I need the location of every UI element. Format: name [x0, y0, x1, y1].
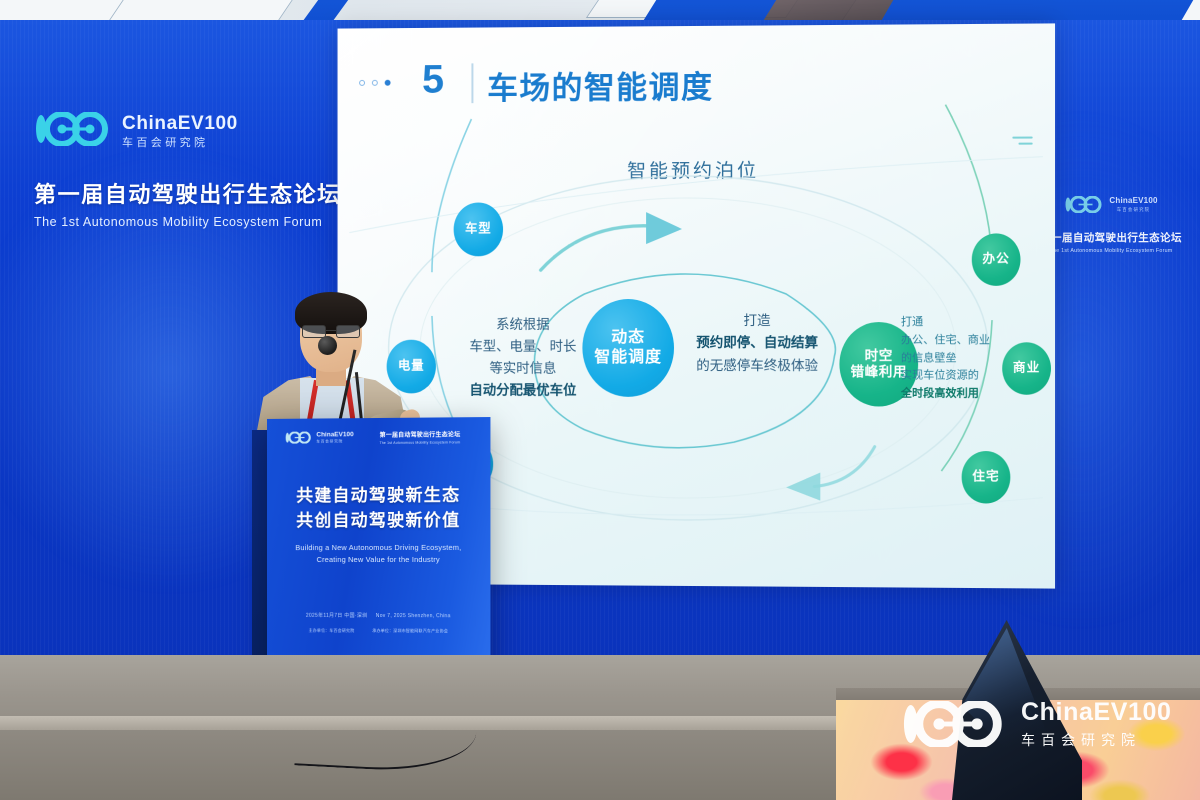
- podium-slogan: 共建自动驾驶新生态 共创自动驾驶新价值 Building a New Auton…: [267, 483, 490, 566]
- left-banner-branding: ChinaEV100 车百会研究院 第一届自动驾驶出行生态论坛 The 1st …: [34, 112, 324, 229]
- right-banner-title-en: The 1st Autonomous Mobility Ecosystem Fo…: [1036, 248, 1186, 254]
- node-residential: 住宅: [962, 451, 1011, 504]
- right-banner-title-cn: 第一届自动驾驶出行生态论坛: [1036, 230, 1186, 245]
- conference-stage-photo: ChinaEV100 车百会研究院 第一届自动驾驶出行生态论坛 The 1st …: [0, 0, 1200, 800]
- podium-slogan-line2: 共创自动驾驶新价值: [267, 508, 490, 533]
- mid-text-line1: 打造: [682, 310, 832, 333]
- node-label: 办公: [982, 252, 1009, 267]
- china-ev100-logo-icon: [285, 432, 313, 444]
- peak-bubble-line2: 错峰利用: [851, 364, 907, 381]
- podium-footer: 2025年11月7日 中国·深圳 Nov 7, 2025 Shenzhen, C…: [267, 612, 490, 635]
- node-label: 住宅: [972, 470, 999, 485]
- left-banner-title-en: The 1st Autonomous Mobility Ecosystem Fo…: [34, 215, 324, 229]
- right-description-text: 打通 办公、住宅、商业 的信息壁垒 实现车位资源的 全时段高效利用: [901, 314, 1010, 404]
- podium-logo-cn: 车百会研究院: [316, 439, 353, 444]
- podium-slogan-en-line1: Building a New Autonomous Driving Ecosys…: [267, 542, 490, 554]
- left-banner-logo-en: ChinaEV100: [122, 114, 238, 133]
- podium-date-cn: 2025年11月7日 中国·深圳: [306, 613, 368, 619]
- right-banner-logo-cn: 车百会研究院: [1109, 207, 1157, 213]
- right-text-line2: 办公、住宅、商业: [901, 332, 1010, 350]
- peak-bubble-line1: 时空: [851, 348, 907, 365]
- node-label: 车型: [465, 222, 492, 237]
- left-banner-logo-cn: 车百会研究院: [122, 138, 238, 149]
- left-text-line3: 等实时信息: [458, 357, 589, 379]
- watermark-logo-en: ChinaEV100: [1021, 700, 1172, 725]
- podium-logo-en: ChinaEV100: [316, 431, 353, 438]
- core-bubble-line1: 动态: [594, 328, 662, 348]
- right-text-line1: 打通: [901, 314, 1010, 332]
- podium-forum-cn: 第一届自动驾驶出行生态论坛: [380, 429, 461, 439]
- left-text-line2: 车型、电量、时长: [458, 336, 589, 358]
- podium-host: 主办单位：车百会研究院: [309, 628, 355, 634]
- right-text-line4: 实现车位资源的: [901, 368, 1010, 386]
- mid-text-line3: 的无感停车终极体验: [682, 355, 832, 378]
- mid-text-line2: 预约即停、自动结算: [682, 332, 832, 355]
- left-description-text: 系统根据 车型、电量、时长 等实时信息 自动分配最优车位: [458, 314, 589, 401]
- right-text-line3: 的信息壁垒: [901, 350, 1010, 368]
- node-vehicle-type: 车型: [454, 203, 503, 257]
- podium-forum-en: The 1st Autonomous Mobility Ecosystem Fo…: [380, 440, 461, 445]
- china-ev100-logo-icon: [900, 701, 1008, 747]
- left-banner-title-cn: 第一届自动驾驶出行生态论坛: [34, 177, 324, 209]
- left-text-line4: 自动分配最优车位: [458, 379, 589, 401]
- watermark-logo-cn: 车百会研究院: [1021, 733, 1172, 747]
- podium-support: 承办单位：深圳市智能网联汽车产业协会: [372, 628, 448, 634]
- china-ev100-logo-icon: [34, 112, 112, 151]
- watermark-logo: ChinaEV100 车百会研究院: [900, 700, 1172, 747]
- podium-slogan-en-line2: Creating New Value for the Industry: [267, 554, 490, 566]
- podium-date-en: Nov 7, 2025 Shenzhen, China: [376, 613, 451, 619]
- mid-description-text: 打造 预约即停、自动结算 的无感停车终极体验: [682, 310, 832, 377]
- right-banner-branding: ChinaEV100 车百会研究院 第一届自动驾驶出行生态论坛 The 1st …: [1036, 196, 1186, 254]
- china-ev100-logo-icon: [1064, 196, 1104, 213]
- core-bubble-dynamic-scheduling: 动态 智能调度: [582, 299, 674, 397]
- left-text-line1: 系统根据: [458, 314, 589, 336]
- node-label: 商业: [1013, 361, 1040, 376]
- podium-slogan-line1: 共建自动驾驶新生态: [267, 483, 490, 509]
- node-office: 办公: [972, 233, 1021, 285]
- microphone-head-icon: [318, 336, 337, 355]
- right-banner-logo-en: ChinaEV100: [1109, 196, 1157, 205]
- podium-logo-row: ChinaEV100 车百会研究院 第一届自动驾驶出行生态论坛 The 1st …: [285, 429, 461, 445]
- core-bubble-line2: 智能调度: [594, 348, 662, 368]
- right-text-line5: 全时段高效利用: [901, 386, 1010, 404]
